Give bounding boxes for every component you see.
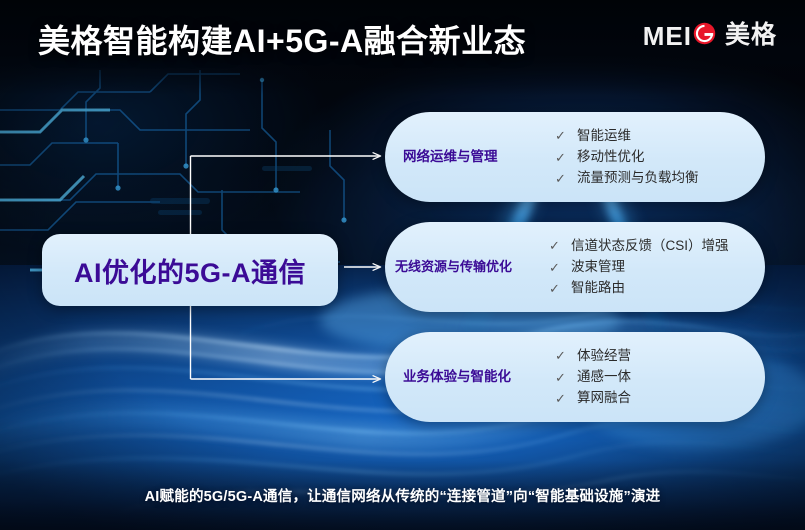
card-bullet-list: ✓ 信道状态反馈（CSI）增强 ✓ 波束管理 ✓ 智能路由 (547, 237, 765, 298)
check-icon: ✓ (555, 172, 567, 185)
card-bullet-list: ✓ 智能运维 ✓ 移动性优化 ✓ 流量预测与负载均衡 (553, 127, 765, 188)
list-item: ✓ 移动性优化 (555, 148, 765, 166)
list-item-label: 信道状态反馈（CSI）增强 (571, 237, 729, 255)
list-item: ✓ 体验经营 (555, 347, 765, 365)
check-icon: ✓ (555, 392, 567, 405)
card-label: 无线资源与传输优化 (385, 259, 547, 275)
check-icon: ✓ (555, 349, 567, 362)
card-bullet-list: ✓ 体验经营 ✓ 通感一体 ✓ 算网融合 (553, 347, 765, 408)
card-radio-resource-optimization[interactable]: 无线资源与传输优化 ✓ 信道状态反馈（CSI）增强 ✓ 波束管理 ✓ 智能路由 (385, 222, 765, 312)
list-item: ✓ 信道状态反馈（CSI）增强 (549, 237, 765, 255)
list-item: ✓ 波束管理 (549, 258, 765, 276)
footer-caption: AI赋能的5G/5G-A通信，让通信网络从传统的“连接管道”向“智能基础设施”演… (0, 485, 805, 506)
list-item: ✓ 流量预测与负载均衡 (555, 169, 765, 187)
list-item-label: 波束管理 (571, 258, 625, 276)
list-item-label: 智能运维 (577, 127, 631, 145)
card-network-operations[interactable]: 网络运维与管理 ✓ 智能运维 ✓ 移动性优化 ✓ 流量预测与负载均衡 (385, 112, 765, 202)
list-item: ✓ 智能运维 (555, 127, 765, 145)
source-card-label: AI优化的5G-A通信 (74, 251, 306, 290)
card-label: 业务体验与智能化 (385, 369, 553, 385)
list-item: ✓ 智能路由 (549, 279, 765, 297)
list-item: ✓ 通感一体 (555, 368, 765, 386)
check-icon: ✓ (549, 239, 561, 252)
list-item-label: 智能路由 (571, 279, 625, 297)
check-icon: ✓ (555, 371, 567, 384)
check-icon: ✓ (549, 282, 561, 295)
check-icon: ✓ (555, 151, 567, 164)
check-icon: ✓ (549, 261, 561, 274)
source-card[interactable]: AI优化的5G-A通信 (42, 234, 338, 306)
list-item-label: 流量预测与负载均衡 (577, 169, 699, 187)
list-item-label: 移动性优化 (577, 148, 645, 166)
list-item-label: 通感一体 (577, 368, 631, 386)
check-icon: ✓ (555, 129, 567, 142)
card-service-experience[interactable]: 业务体验与智能化 ✓ 体验经营 ✓ 通感一体 ✓ 算网融合 (385, 332, 765, 422)
list-item-label: 体验经营 (577, 347, 631, 365)
card-label: 网络运维与管理 (385, 149, 553, 165)
slide-canvas: 美格智能构建AI+5G-A融合新业态 MEI 美格 (0, 0, 805, 530)
list-item: ✓ 算网融合 (555, 389, 765, 407)
list-item-label: 算网融合 (577, 389, 631, 407)
